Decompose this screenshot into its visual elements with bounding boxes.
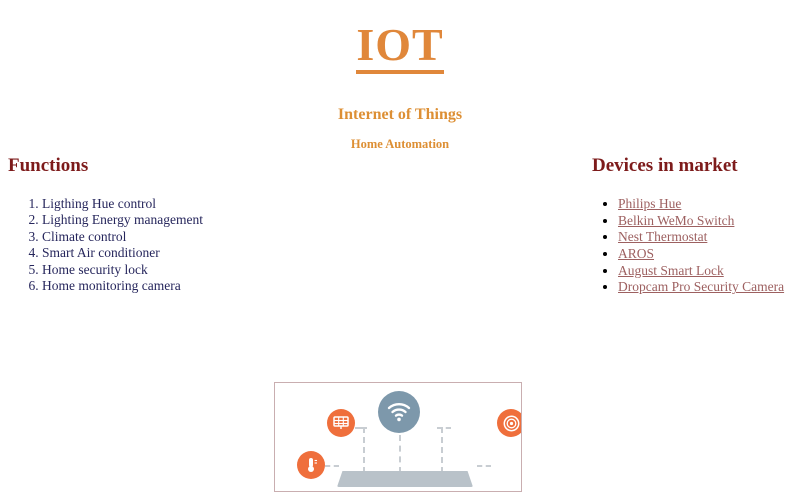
device-link-belkin-wemo-switch[interactable]: Belkin WeMo Switch [618, 213, 734, 228]
list-item: Dropcam Pro Security Camera [618, 279, 800, 296]
list-item: Philips Hue [618, 196, 800, 213]
connector-lower-left-arm [325, 465, 339, 467]
iot-infographic-image [274, 382, 522, 492]
connector-lower-right-arm [477, 465, 491, 467]
subtitle: Internet of Things [0, 74, 800, 124]
device-link-nest-thermostat[interactable]: Nest Thermostat [618, 229, 707, 244]
thermometer-icon [297, 451, 325, 479]
devices-list: Philips Hue Belkin WeMo Switch Nest Ther… [592, 178, 800, 296]
list-item: Belkin WeMo Switch [618, 213, 800, 230]
list-item: Nest Thermostat [618, 229, 800, 246]
solar-grid-icon [327, 409, 355, 437]
connector-left [363, 427, 365, 473]
connector-right [441, 427, 443, 473]
list-item: Climate control [42, 229, 338, 245]
list-item: Ligthing Hue control [42, 196, 338, 212]
page-title-text: IOT [356, 22, 443, 74]
device-link-aros[interactable]: AROS [618, 246, 654, 261]
tagline: Home Automation [0, 124, 800, 152]
devices-heading: Devices in market [592, 155, 800, 178]
device-link-august-smart-lock[interactable]: August Smart Lock [618, 263, 724, 278]
connector-left-arm [355, 427, 367, 429]
device-link-dropcam-pro-security-camera[interactable]: Dropcam Pro Security Camera [618, 279, 784, 294]
device-platform [337, 471, 473, 487]
list-item: Lighting Energy management [42, 212, 338, 228]
page-title: IOT [0, 0, 800, 74]
functions-heading: Functions [8, 155, 338, 178]
connector-right-arm [437, 427, 451, 429]
device-link-philips-hue[interactable]: Philips Hue [618, 196, 681, 211]
list-item: Smart Air conditioner [42, 245, 338, 261]
list-item: AROS [618, 246, 800, 263]
wifi-hub-icon [378, 391, 420, 433]
list-item: August Smart Lock [618, 263, 800, 280]
infographic-canvas [275, 383, 521, 491]
list-item: Home security lock [42, 262, 338, 278]
devices-column: Devices in market Philips Hue Belkin WeM… [592, 155, 800, 296]
connector-center [399, 435, 401, 473]
list-item: Home monitoring camera [42, 278, 338, 294]
functions-column: Functions Ligthing Hue control Lighting … [8, 155, 338, 295]
functions-list: Ligthing Hue control Lighting Energy man… [8, 178, 338, 295]
thermostat-dial-icon [497, 409, 522, 437]
